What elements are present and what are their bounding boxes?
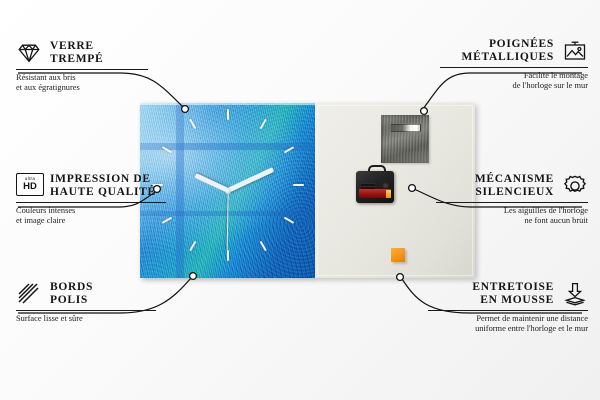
divider [436,202,588,203]
clock-tick [161,146,172,153]
divider [16,202,166,203]
feature-impression-haute-qualite: ultra HD IMPRESSION DE HAUTE QUALITÉ Cou… [16,173,166,226]
mechanism-dial [382,182,389,189]
clock-tick [259,241,266,252]
feature-entretoise-en-mousse: ENTRETOISE EN MOUSSE Permet de maintenir… [428,281,588,334]
clock-tick [259,119,266,130]
feature-mecanisme-silencieux: MÉCANISME SILENCIEUX Les aiguilles de l'… [436,173,588,226]
clock-front-panel [140,103,315,278]
clock-tick [283,217,294,224]
ultra-hd-icon: ultra HD [16,173,42,199]
clock-second-hand [226,190,228,250]
divider [16,69,148,70]
gear-icon [562,173,588,199]
metal-hanger-plate [381,115,429,163]
divider [428,310,588,311]
feature-subtitle: Les aiguilles de l'horloge ne font aucun… [436,206,588,226]
clock-hour-hand [194,173,229,193]
clock-minute-hand [226,167,273,193]
feature-subtitle: Résistant aux bris et aux égratignures [16,73,148,93]
feature-subtitle: Permet de maintenir une distance uniform… [428,314,588,334]
clock-tick [227,109,229,120]
clock-tick [227,250,229,261]
feature-title: MÉCANISME SILENCIEUX [475,173,554,199]
feature-title: IMPRESSION DE HAUTE QUALITÉ [50,173,156,199]
clock-tick [293,184,304,186]
clock-tick [189,241,196,252]
brushed-metal-texture [381,115,429,163]
feature-poignees-metalliques: POIGNÉES MÉTALLIQUES Facilite le montage… [440,38,588,91]
wall-hanger-frame-icon [562,38,588,64]
infographic-canvas: VERRE TREMPÉ Résistant aux bris et aux é… [0,0,600,400]
diamond-icon [16,40,42,66]
divider [16,310,156,311]
clock-tick [189,119,196,130]
feature-subtitle: Facilite le montage de l'horloge sur le … [440,71,588,91]
feature-bords-polis: BORDS POLIS Surface lisse et sûre [16,281,156,324]
ultra-hd-icon-main-text: HD [23,182,37,192]
mechanism-body [356,171,394,203]
feature-subtitle: Couleurs intenses et image claire [16,206,166,226]
quartz-mechanism [356,165,394,203]
foam-spacer [391,248,405,262]
feature-verre-trempe: VERRE TREMPÉ Résistant aux bris et aux é… [16,40,148,93]
divider [440,67,588,68]
feature-title: BORDS POLIS [50,281,93,307]
clock-tick [283,146,294,153]
battery-terminal [386,190,391,198]
feature-title: VERRE TREMPÉ [50,40,103,66]
product-photo [140,103,475,278]
clock-center-cap [225,188,231,194]
clock-face [140,103,315,278]
feature-subtitle: Surface lisse et sûre [16,314,156,324]
feature-title: POIGNÉES MÉTALLIQUES [462,38,554,64]
arrow-down-layers-icon [562,281,588,307]
hanger-slot [390,124,421,132]
feature-title: ENTRETOISE EN MOUSSE [472,281,554,307]
polished-edges-icon [16,281,42,307]
